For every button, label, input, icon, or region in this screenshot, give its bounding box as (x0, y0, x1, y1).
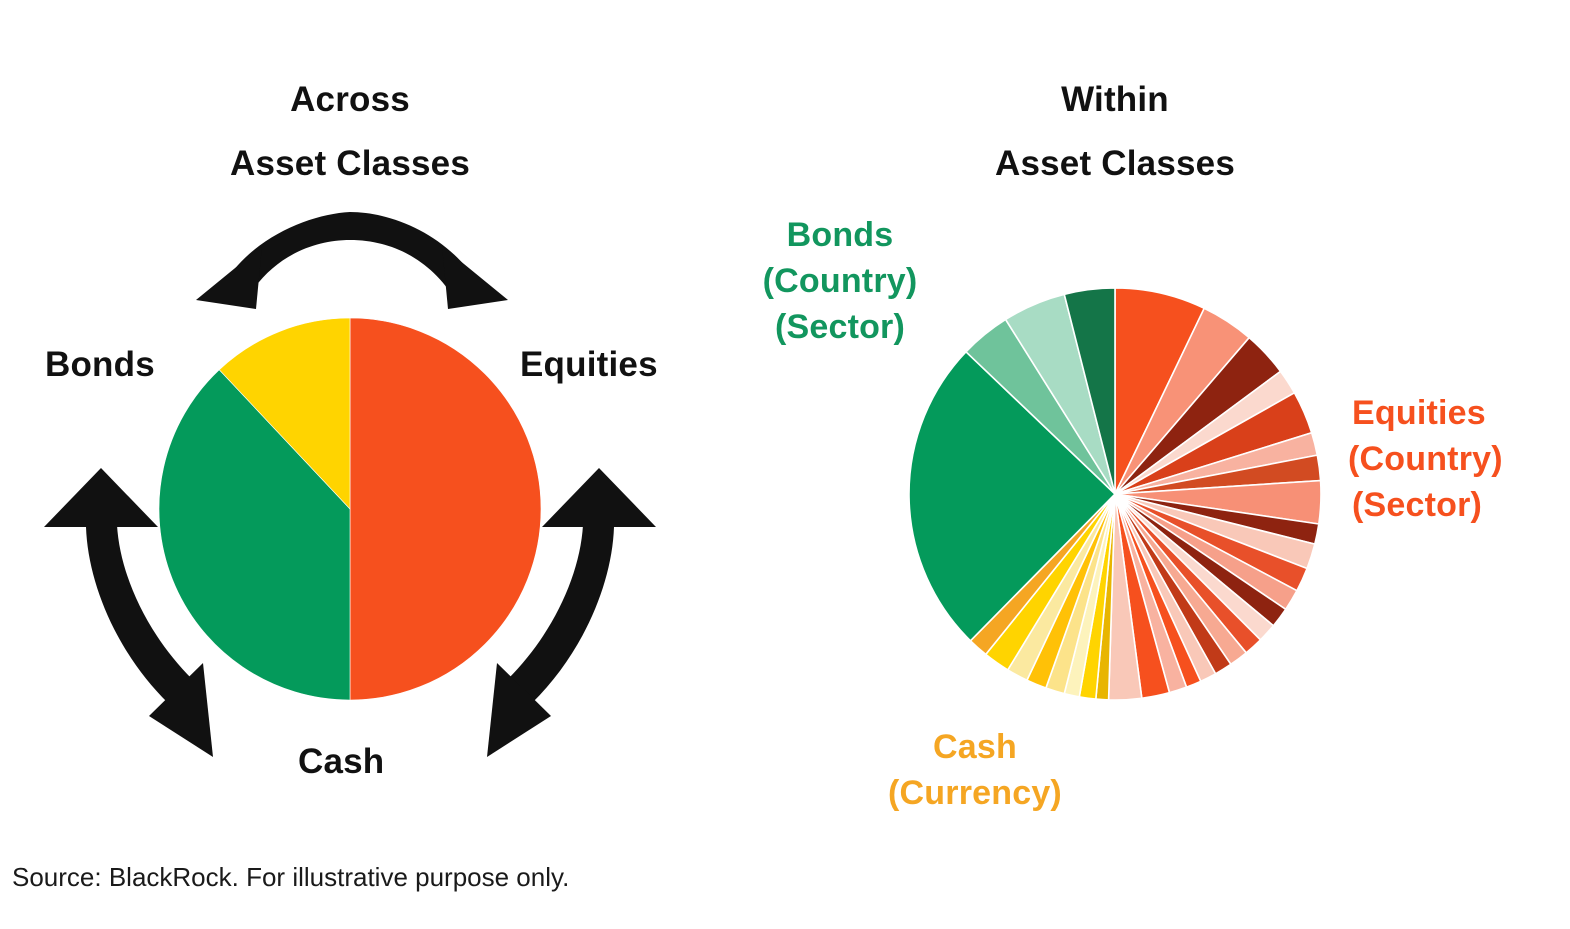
left-panel-title-line1: Across (180, 68, 520, 132)
right-label-equities-line2: (Country) (1348, 436, 1503, 482)
right-panel-title-line1: Within (955, 68, 1275, 132)
left-panel-title-line2: Asset Classes (150, 132, 550, 196)
right-label-equities-line3: (Sector) (1352, 482, 1482, 528)
right-label-equities-line1: Equities (1352, 390, 1486, 436)
across-asset-classes-pie: Equities: 50Bonds: 38Cash: 12 (140, 299, 560, 719)
left-label-bonds: Bonds (45, 345, 155, 385)
within-asset-classes-pie: Equities 1: 7.2Equities 2: 4.2Equities 3… (905, 284, 1325, 704)
right-panel-title-line2: Asset Classes (945, 132, 1285, 196)
figure-canvas: Across Asset Classes Bonds Equities Cash (0, 0, 1570, 929)
top-double-arrow (196, 212, 508, 309)
pie-slice: Equities: 50 (350, 318, 541, 700)
right-label-cash-line2: (Currency) (845, 770, 1105, 816)
left-label-cash: Cash (298, 742, 384, 782)
right-label-cash-line1: Cash (855, 724, 1095, 770)
right-label-bonds-line1: Bonds (730, 212, 950, 258)
source-note: Source: BlackRock. For illustrative purp… (12, 862, 569, 893)
